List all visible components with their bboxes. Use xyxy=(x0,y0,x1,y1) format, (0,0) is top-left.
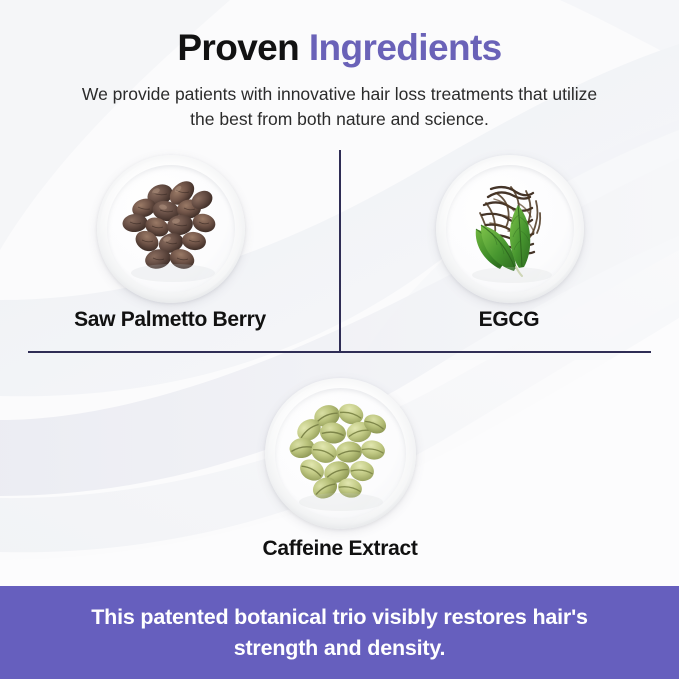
proven-ingredients-infographic: Proven Ingredients We provide patients w… xyxy=(0,0,679,679)
ingredient-label-caffeine-extract: Caffeine Extract xyxy=(262,537,417,561)
page-title-primary: Proven xyxy=(177,27,299,68)
bottom-banner: This patented botanical trio visibly res… xyxy=(0,586,679,679)
vertical-divider xyxy=(339,150,341,353)
green-coffee-beans-image xyxy=(265,378,416,529)
page-subtitle: We provide patients with innovative hair… xyxy=(40,82,639,132)
bottom-banner-line-1: This patented botanical trio visibly res… xyxy=(60,602,620,633)
ingredient-card-egcg: EGCG xyxy=(366,150,652,345)
green-tea-leaves-image xyxy=(436,155,584,303)
page-title-accent: Ingredients xyxy=(309,27,502,68)
bottom-banner-line-2: strength and density. xyxy=(60,633,620,664)
petri-dish-saw-palmetto-berry xyxy=(97,155,245,303)
horizontal-divider xyxy=(28,351,651,353)
ingredient-card-caffeine-extract: Caffeine Extract xyxy=(197,375,483,575)
bottom-banner-text: This patented botanical trio visibly res… xyxy=(60,602,620,664)
ingredient-label-egcg: EGCG xyxy=(479,308,540,332)
petri-dish-egcg xyxy=(436,155,584,303)
ingredient-label-saw-palmetto-berry: Saw Palmetto Berry xyxy=(74,308,266,332)
page-title: Proven Ingredients xyxy=(0,26,679,70)
petri-dish-caffeine-extract xyxy=(265,378,416,529)
ingredient-card-saw-palmetto-berry: Saw Palmetto Berry xyxy=(27,150,313,345)
page-subtitle-line-1: We provide patients with innovative hair… xyxy=(40,82,639,107)
page-subtitle-line-2: the best from both nature and science. xyxy=(40,107,639,132)
saw-palmetto-berries-image xyxy=(97,155,245,303)
